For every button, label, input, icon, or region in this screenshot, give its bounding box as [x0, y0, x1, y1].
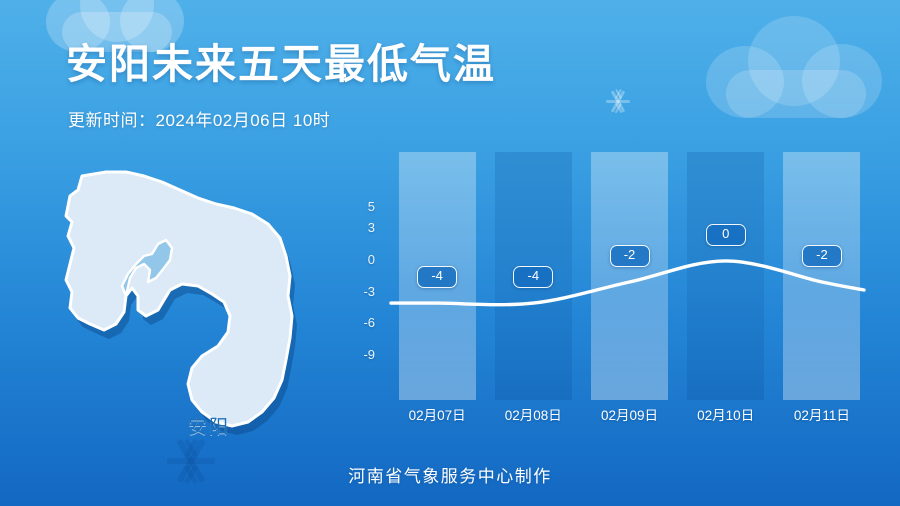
region-map: 安阳 [52, 160, 322, 460]
snowflake-icon [602, 85, 634, 117]
data-point-badge: 0 [706, 224, 746, 246]
data-point-badge: -2 [610, 245, 650, 267]
cloud-icon [706, 16, 882, 118]
page-title: 安阳未来五天最低气温 [66, 44, 496, 85]
data-point-badge: -2 [802, 245, 842, 267]
data-point-badge: -4 [513, 266, 553, 288]
x-axis-label: 02月10日 [678, 404, 774, 424]
data-point-badge: -4 [417, 266, 457, 288]
temperature-chart: 530-3-6-9 -4-4-20-2 02月07日02月08日02月09日02… [333, 146, 878, 436]
temperature-line [333, 146, 878, 436]
footer-credit: 河南省气象服务中心制作 [0, 462, 900, 487]
infographic-canvas: 安阳未来五天最低气温 更新时间：2024年02月06日 10时 安阳 530-3… [0, 0, 900, 506]
x-axis-label: 02月09日 [581, 404, 677, 424]
x-axis-label: 02月08日 [485, 404, 581, 424]
map-region-label: 安阳 [188, 412, 230, 439]
x-axis-label: 02月07日 [389, 404, 485, 424]
x-axis-label: 02月11日 [774, 404, 870, 424]
update-time: 更新时间：2024年02月06日 10时 [68, 106, 330, 131]
